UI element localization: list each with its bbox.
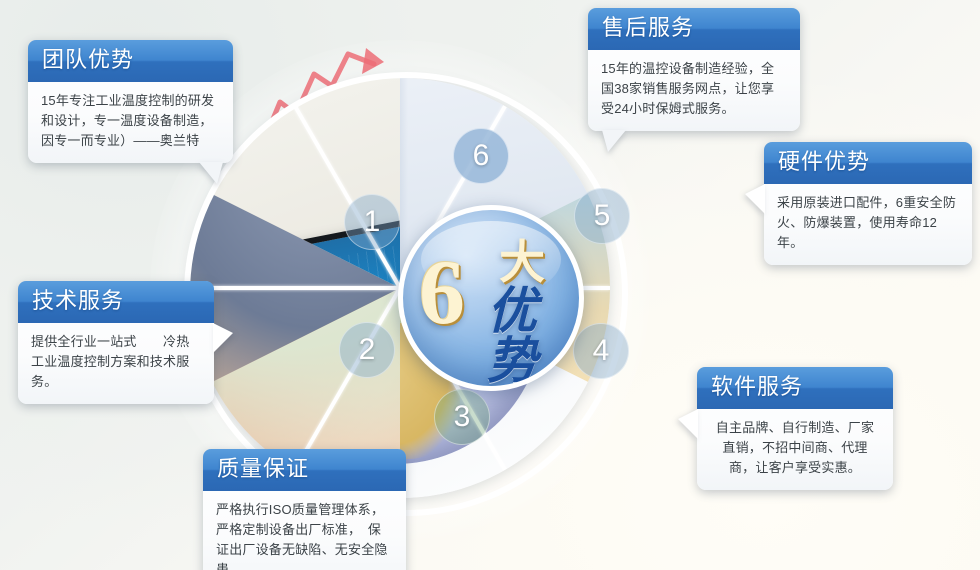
- callout-tech-body: 提供全行业一站式 冷热工业温度控制方案和技术服务。: [18, 323, 214, 404]
- wheel-separator: [190, 286, 400, 290]
- badge-6[interactable]: 6: [453, 128, 509, 184]
- callout-team-title: 团队优势: [28, 40, 233, 82]
- callout-hardware-advantage[interactable]: 硬件优势 采用原装进口配件，6重安全防火、防爆装置，使用寿命12年。: [764, 142, 972, 265]
- callout-software-service[interactable]: 软件服务 自主品牌、自行制造、厂家直销，不招中间商、代理商，让客户享受实惠。: [697, 367, 893, 490]
- callout-tech-title: 技术服务: [18, 281, 214, 323]
- center-subtitle: 优势: [487, 286, 579, 386]
- callout-tail-icon: [678, 409, 698, 439]
- callout-team-advantage[interactable]: 团队优势 15年专注工业温度控制的研发和设计，专一温度设备制造，因专一而专业）—…: [28, 40, 233, 163]
- badge-3-label: 3: [454, 402, 471, 432]
- badge-5[interactable]: 5: [574, 188, 630, 244]
- callout-tail-icon: [213, 323, 233, 353]
- badge-4-label: 4: [593, 336, 610, 366]
- center-number: 6: [419, 246, 465, 338]
- callout-software-body: 自主品牌、自行制造、厂家直销，不招中间商、代理商，让客户享受实惠。: [697, 409, 893, 490]
- infographic-canvas: 1 2 3 4 5 6 6 大 优势 团队优势 15年专注工业温度控制的研发和设…: [0, 0, 980, 570]
- callout-technical-service[interactable]: 技术服务 提供全行业一站式 冷热工业温度控制方案和技术服务。: [18, 281, 214, 404]
- badge-1-label: 1: [364, 207, 381, 237]
- badge-1[interactable]: 1: [344, 194, 400, 250]
- badge-2-label: 2: [359, 335, 376, 365]
- center-big-char: 大: [499, 240, 545, 286]
- center-badge: 6 大 优势: [398, 205, 584, 391]
- callout-software-title: 软件服务: [697, 367, 893, 409]
- callout-after-sales-title: 售后服务: [588, 8, 800, 50]
- callout-tail-icon: [602, 130, 626, 152]
- callout-hardware-title: 硬件优势: [764, 142, 972, 184]
- badge-6-label: 6: [473, 141, 490, 171]
- callout-quality-assurance[interactable]: 质量保证 严格执行ISO质量管理体系，严格定制设备出厂标准， 保证出厂设备无缺陷…: [203, 449, 406, 570]
- callout-after-sales-body: 15年的温控设备制造经验，全国38家销售服务网点，让您享受24小时保姆式服务。: [588, 50, 800, 131]
- badge-2[interactable]: 2: [339, 322, 395, 378]
- callout-hardware-body: 采用原装进口配件，6重安全防火、防爆装置，使用寿命12年。: [764, 184, 972, 265]
- callout-quality-title: 质量保证: [203, 449, 406, 491]
- badge-3[interactable]: 3: [434, 389, 490, 445]
- callout-team-body: 15年专注工业温度控制的研发和设计，专一温度设备制造，因专一而专业）——奥兰特: [28, 82, 233, 163]
- callout-tail-icon: [745, 184, 765, 214]
- callout-tail-icon: [199, 162, 223, 184]
- callout-quality-body: 严格执行ISO质量管理体系，严格定制设备出厂标准， 保证出厂设备无缺陷、无安全隐…: [203, 491, 406, 570]
- callout-after-sales[interactable]: 售后服务 15年的温控设备制造经验，全国38家销售服务网点，让您享受24小时保姆…: [588, 8, 800, 131]
- badge-5-label: 5: [594, 201, 611, 231]
- badge-4[interactable]: 4: [573, 323, 629, 379]
